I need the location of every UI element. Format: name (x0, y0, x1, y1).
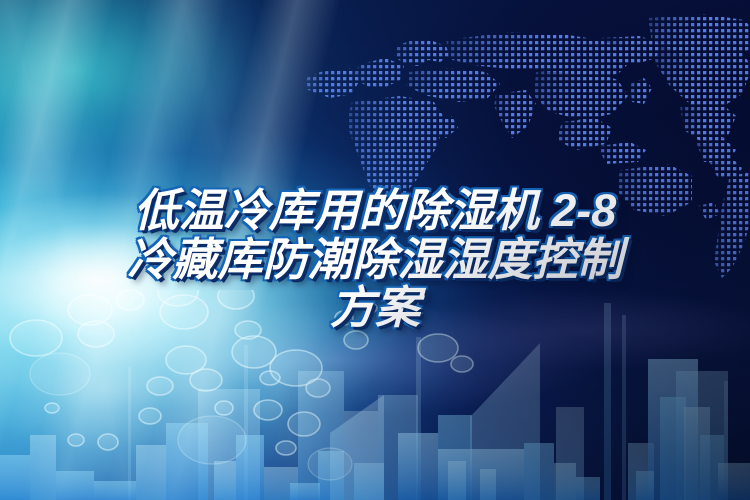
corner-vignette (0, 0, 750, 500)
promo-banner: 低温冷库用的除湿机 2-8 冷藏库防潮除湿湿度控制 方案 (0, 0, 750, 500)
